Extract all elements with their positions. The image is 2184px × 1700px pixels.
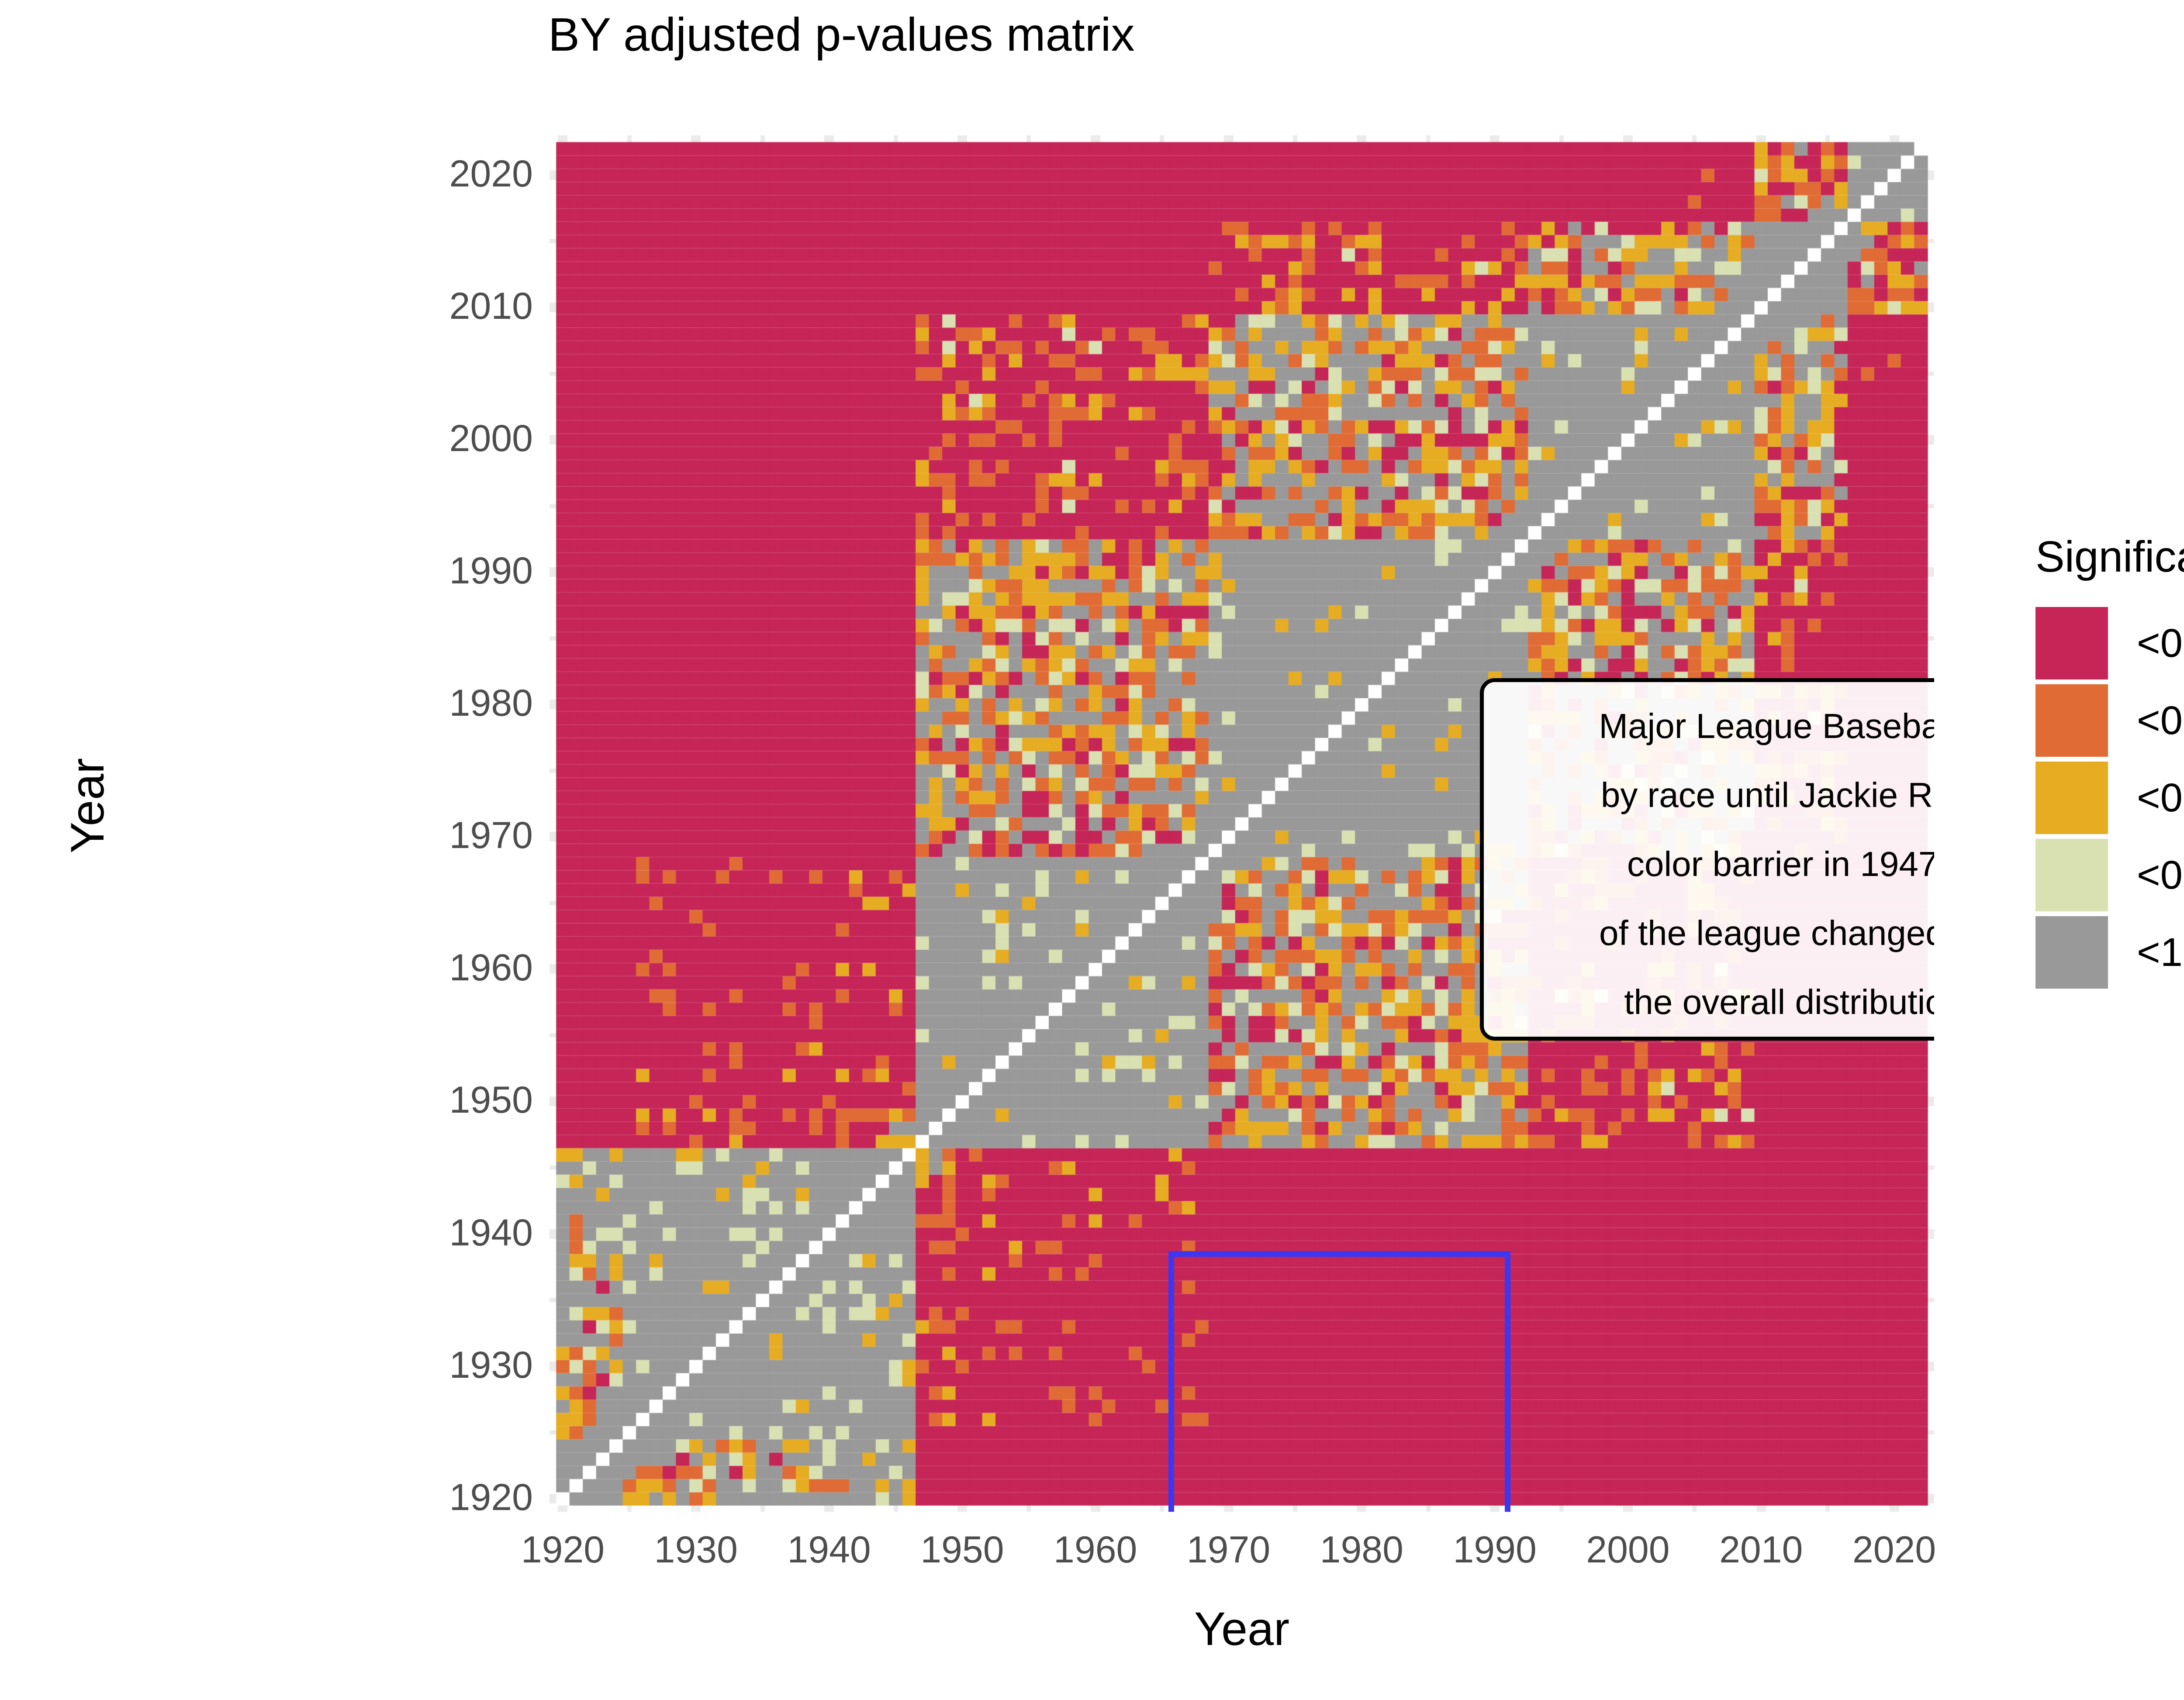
y-axis-tick-1920: 1920 [349,1476,533,1519]
annotation-line-2: by race until Jackie Robinson broke the [1495,775,1934,815]
y-axis-tick-1990: 1990 [349,549,533,593]
chart-title: BY adjusted p-values matrix [548,6,1946,63]
y-axis-tick-1940: 1940 [349,1211,533,1255]
annotation-line-1: Major League Baseball was segregated [1495,706,1934,746]
x-axis-tick-1970: 1970 [1154,1528,1303,1572]
legend-swatch-icon [2035,916,2108,989]
legend-item-1[interactable]: <0.01 [2035,684,2184,761]
x-axis-tick-1920: 1920 [488,1528,637,1572]
annotation-text-box: Major League Baseball was segregated by … [1480,678,1934,1041]
y-axis-tick-1960: 1960 [349,946,533,990]
x-axis-tick-2020: 2020 [1820,1528,1969,1572]
legend-title: Significance [2035,531,2184,583]
legend-swatch-icon [2035,684,2108,757]
y-axis-tick-2010: 2010 [349,285,533,328]
annotation-line-3: color barrier in 1947.The talent level [1495,844,1934,884]
y-axis-tick-1930: 1930 [349,1344,533,1387]
x-axis-tick-1940: 1940 [755,1528,903,1572]
x-axis-tick-2000: 2000 [1554,1528,1702,1572]
legend-label: <0.05 [2137,762,2184,834]
chart-figure: BY adjusted p-values matrix 192019301940… [0,0,2184,1700]
legend-item-3[interactable]: <0.1 [2035,839,2184,915]
y-axis-tick-2020: 2020 [349,152,533,196]
x-axis-tick-1960: 1960 [1021,1528,1170,1572]
legend: Significance <0.001<0.01<0.05<0.1<1 [2027,531,2184,1076]
legend-label: <0.01 [2137,684,2184,757]
x-axis-tick-1980: 1980 [1287,1528,1436,1572]
x-axis-tick-1930: 1930 [622,1528,770,1572]
annotation-line-5: the overall distribution of home runs. [1495,982,1934,1022]
segregation-era-highlight-rect [1168,1251,1510,1512]
legend-swatch-icon [2035,607,2108,679]
legend-item-4[interactable]: <1 [2035,916,2184,993]
x-axis-tick-1950: 1950 [888,1528,1037,1572]
legend-label: <0.001 [2137,607,2184,679]
x-axis-tick-labels: 1920193019401950196019701980199020002010… [549,1528,1934,1581]
legend-swatch-icon [2035,762,2108,834]
legend-swatch-icon [2035,839,2108,911]
annotation-line-4: of the league changed rapidly, including [1495,913,1934,953]
legend-item-2[interactable]: <0.05 [2035,762,2184,838]
legend-label: <0.1 [2137,839,2184,911]
y-axis-tick-labels: 1920193019401950196019701980199020002010… [332,135,533,1512]
heatmap-panel[interactable]: Major League Baseball was segregated by … [549,135,1934,1512]
legend-item-0[interactable]: <0.001 [2035,607,2184,683]
x-axis-title: Year [549,1600,1934,1657]
y-axis-tick-1980: 1980 [349,682,533,725]
y-axis-title: Year [59,675,116,937]
legend-label: <1 [2137,916,2183,989]
x-axis-tick-1990: 1990 [1420,1528,1569,1572]
x-axis-tick-2010: 2010 [1687,1528,1835,1572]
y-axis-tick-1970: 1970 [349,814,533,857]
y-axis-tick-2000: 2000 [349,417,533,460]
y-axis-tick-1950: 1950 [349,1079,533,1122]
